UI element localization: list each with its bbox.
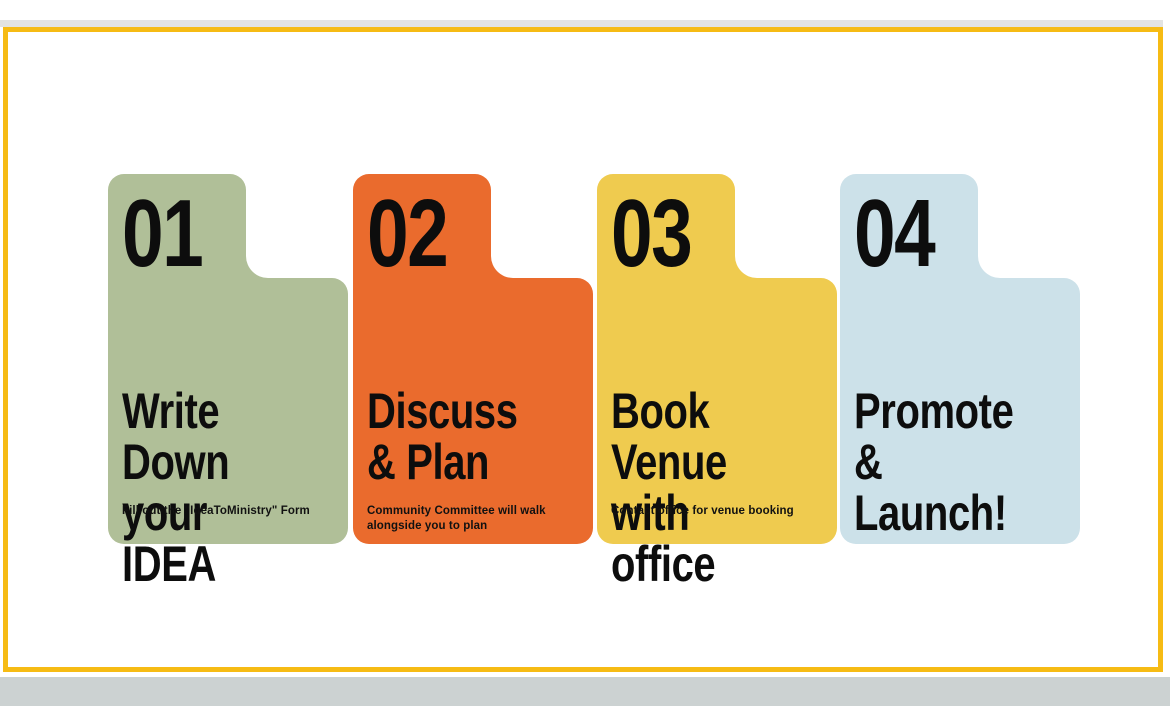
step-card-1[interactable]: 01 Write Down your IDEA Fill out the "Id…	[108, 174, 348, 544]
step-card-2[interactable]: 02 Discuss & Plan Community Committee wi…	[353, 174, 593, 544]
step-card-2-subtitle: Community Committee will walk alongside …	[367, 504, 597, 534]
step-card-3[interactable]: 03 Book Venue with office Contact office…	[597, 174, 837, 544]
step-card-4-title: Promote & Launch!	[854, 386, 1018, 539]
step-card-1-subtitle: Fill out the "IdeaToMinistry" Form	[122, 504, 352, 519]
step-card-3-title: Book Venue with office	[611, 386, 775, 590]
step-card-2-number: 02	[367, 186, 447, 282]
step-card-3-number: 03	[611, 186, 691, 282]
step-card-1-title: Write Down your IDEA	[122, 386, 286, 590]
bottom-margin-band	[0, 677, 1170, 706]
slide-stage: 01 Write Down your IDEA Fill out the "Id…	[0, 0, 1170, 706]
top-shadow-strip	[0, 20, 1163, 27]
step-card-4[interactable]: 04 Promote & Launch!	[840, 174, 1080, 544]
slide-canvas: 01 Write Down your IDEA Fill out the "Id…	[3, 27, 1163, 672]
step-card-1-number: 01	[122, 186, 202, 282]
step-card-3-subtitle: Contact office for venue booking	[611, 504, 841, 519]
top-margin-strip	[0, 0, 1170, 27]
step-card-4-number: 04	[854, 186, 934, 282]
steps-container: 01 Write Down your IDEA Fill out the "Id…	[8, 32, 1168, 677]
step-card-2-title: Discuss & Plan	[367, 386, 531, 488]
